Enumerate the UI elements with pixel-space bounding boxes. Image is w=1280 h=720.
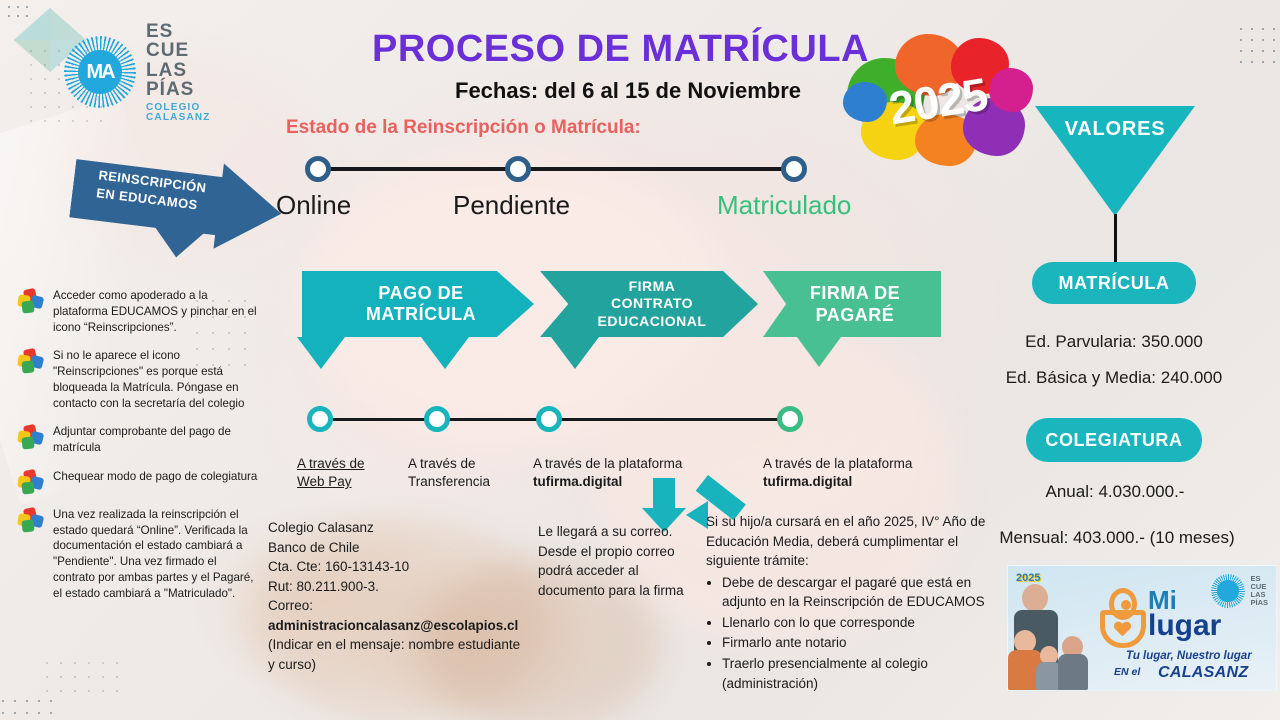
payment-label-line1: A través de (408, 456, 476, 471)
dot (1273, 28, 1275, 30)
logo-sub-2: CALASANZ (146, 113, 211, 123)
payment-label-line1: A través de la plataforma (533, 456, 682, 471)
pagare-info-block: Si su hijo/a cursará en el año 2025, IV°… (706, 512, 988, 694)
email-info-block: Le llegará a su correo. Desde el propio … (538, 522, 700, 600)
colegiatura-value-row: Anual: 4.030.000.- (1000, 482, 1230, 502)
payment-label-transferencia: A través de Transferencia (408, 455, 490, 491)
monogram-text: MA (86, 62, 113, 82)
status-node-pendiente[interactable] (505, 156, 531, 182)
dot (1262, 50, 1264, 52)
instruction-text: Acceder como apoderado a la plataforma E… (53, 288, 258, 335)
dot (60, 662, 62, 664)
bank-line: Cta. Cte: 160-13143-10 (268, 557, 528, 577)
sunburst-logo-icon (1211, 574, 1245, 608)
matricula-pill: MATRÍCULA (1032, 262, 1196, 304)
dot (46, 662, 48, 664)
logo-line-3: LAS (146, 61, 211, 80)
matricula-value-row: Ed. Parvularia: 350.000 (988, 332, 1240, 352)
dot (1262, 39, 1264, 41)
mi-lugar-pin-heart-icon (1100, 588, 1146, 648)
dot (38, 700, 40, 702)
puzzle-piece-icon (18, 470, 44, 494)
payment-label-line1: A través de la plataforma (763, 456, 912, 471)
process-step-pagare[interactable]: FIRMA DE PAGARÉ (763, 271, 941, 337)
payment-label-line2: Web Pay (297, 474, 352, 489)
dot (46, 690, 48, 692)
logo-line-1: ES (146, 22, 211, 41)
dot (58, 78, 60, 80)
list-item: Firmarlo ante notario (722, 633, 988, 653)
family-illustration (1008, 578, 1094, 690)
dot (74, 690, 76, 692)
dot (26, 712, 28, 714)
list-item: Una vez realizada la reinscripción el es… (18, 507, 258, 602)
dot (116, 676, 118, 678)
valores-connector-line (1114, 214, 1117, 262)
dot (26, 700, 28, 702)
dot (1240, 61, 1242, 63)
dot (8, 15, 10, 17)
process-step-contrato[interactable]: FIRMA CONTRATO EDUCACIONAL (540, 271, 758, 337)
list-item: Chequear modo de pago de colegiatura (18, 469, 258, 494)
dot (102, 690, 104, 692)
status-section-label: Estado de la Reinscripción o Matrícula: (286, 117, 641, 139)
dot (30, 106, 32, 108)
matricula-pill-label: MATRÍCULA (1058, 273, 1169, 294)
dot (50, 700, 52, 702)
dot (14, 712, 16, 714)
arrow-tail-triangle (149, 224, 206, 260)
list-item: Adjuntar comprobante del pago de matrícu… (18, 424, 258, 456)
bank-line: Correo: (268, 596, 528, 616)
sunburst-logo-icon: MA (64, 36, 136, 108)
dot (30, 92, 32, 94)
payment-label-line2: Transferencia (408, 474, 490, 489)
payment-label-webpay: A través de Web Pay (297, 455, 365, 491)
valores-triangle: VALORES (1035, 106, 1195, 216)
dot (60, 676, 62, 678)
logo-line-4: PÍAS (146, 80, 211, 99)
year-paint-splash: 2025 (843, 28, 1033, 168)
payment-label-line1: A través de (297, 456, 365, 471)
dot (14, 700, 16, 702)
payment-node-firma-pagare[interactable] (777, 406, 803, 432)
dot (102, 676, 104, 678)
dot (44, 106, 46, 108)
bank-line: Banco de Chile (268, 538, 528, 558)
dot (58, 92, 60, 94)
dot (88, 690, 90, 692)
dot (1262, 61, 1264, 63)
chevron-drop-triangle (297, 337, 345, 369)
dot (1251, 61, 1253, 63)
colegiatura-pill-label: COLEGIATURA (1045, 430, 1182, 451)
process-step-label: FIRMA DE PAGARÉ (804, 282, 900, 327)
instructions-list: Acceder como apoderado a la plataforma E… (18, 288, 258, 614)
pagare-intro: Si su hijo/a cursará en el año 2025, IV°… (706, 512, 988, 571)
payment-node-webpay[interactable] (307, 406, 333, 432)
payment-label-firma-pagare: A través de la plataforma tufirma.digita… (763, 455, 912, 491)
banner-logo-line: PÍAS (1250, 599, 1268, 607)
dot (60, 690, 62, 692)
list-item: Debe de descargar el pagaré que está en … (722, 573, 988, 612)
splash-blot (989, 68, 1033, 112)
person-body (1058, 654, 1088, 690)
bank-note: (Indicar en el mensaje: nombre estudiant… (268, 635, 528, 674)
list-item: Llenarlo con lo que corresponde (722, 613, 988, 633)
banner-lugar-text: lugar (1148, 612, 1221, 641)
triangle-decor (14, 40, 50, 72)
list-item: Acceder como apoderado a la plataforma E… (18, 288, 258, 335)
status-node-online[interactable] (305, 156, 331, 182)
school-logo-text: ES CUE LAS PÍAS COLEGIO CALASANZ (146, 22, 211, 123)
dot (1240, 39, 1242, 41)
valores-heading: VALORES (1035, 118, 1195, 141)
dot (8, 6, 10, 8)
status-label-pendiente: Pendiente (453, 190, 570, 221)
instruction-text: Una vez realizada la reinscripción el es… (53, 507, 258, 602)
dot (116, 690, 118, 692)
dot (1251, 28, 1253, 30)
process-step-label: PAGO DE MATRÍCULA (360, 283, 476, 325)
dot (116, 662, 118, 664)
bank-email: administracioncalasanz@escolapios.cl (268, 616, 528, 636)
dot (1240, 50, 1242, 52)
dot (44, 92, 46, 94)
person-head (1022, 584, 1048, 612)
monogram-circle: MA (78, 50, 122, 94)
payment-node-transferencia[interactable] (424, 406, 450, 432)
dot (58, 106, 60, 108)
icon-pin (1109, 588, 1137, 620)
dot (1240, 28, 1242, 30)
dot (2, 712, 4, 714)
banner-logo-text: ES CUE LAS PÍAS (1250, 575, 1268, 608)
bank-line: Rut: 80.211.900-3. (268, 577, 528, 597)
dot (30, 78, 32, 80)
dot (30, 120, 32, 122)
puzzle-piece-icon (18, 425, 44, 449)
dot (1273, 39, 1275, 41)
banner-tagline: Tu lugar, Nuestro lugar (1126, 650, 1252, 662)
dot (1251, 39, 1253, 41)
logo-line-2: CUE (146, 41, 211, 60)
school-logo: MA ES CUE LAS PÍAS COLEGIO CALASANZ (64, 22, 211, 123)
banner-calasanz-text: CALASANZ (1158, 664, 1248, 682)
chevron-drop-triangle (551, 337, 599, 369)
dot (74, 662, 76, 664)
triangle-decor (14, 8, 50, 40)
dot (1273, 50, 1275, 52)
arrow-stem (653, 478, 675, 510)
puzzle-piece-icon (18, 508, 44, 532)
list-item: Traerlo presencialmente al colegio (admi… (722, 654, 988, 693)
payment-node-firma-contrato[interactable] (536, 406, 562, 432)
banner-tag-prefix: EN el (1114, 666, 1140, 678)
payment-label-line2: tufirma.digital (763, 474, 852, 489)
chevron-drop-triangle (421, 337, 469, 369)
splash-blot (843, 82, 887, 122)
dot (102, 662, 104, 664)
dot (50, 712, 52, 714)
colegiatura-value-row: Mensual: 403.000.- (10 meses) (972, 528, 1262, 548)
process-step-label: FIRMA CONTRATO EDUCACIONAL (592, 278, 707, 331)
colegiatura-pill: COLEGIATURA (1026, 418, 1202, 462)
process-step-pago[interactable]: PAGO DE MATRÍCULA (302, 271, 534, 337)
dot (88, 662, 90, 664)
pagare-list: Debe de descargar el pagaré que está en … (706, 573, 988, 693)
instruction-text: Si no le aparece el icono "Reinscripcion… (53, 348, 258, 411)
status-node-matriculado[interactable] (781, 156, 807, 182)
bank-line: Colegio Calasanz (268, 518, 528, 538)
dot (1273, 61, 1275, 63)
mi-lugar-banner: 2025 Mi lugar Tu lugar, Nuestro lugar EN… (1007, 565, 1277, 691)
dot (58, 120, 60, 122)
dot (46, 676, 48, 678)
bank-details-block: Colegio Calasanz Banco de Chile Cta. Cte… (268, 518, 528, 675)
matricula-value-row: Ed. Básica y Media: 240.000 (976, 368, 1252, 388)
page-title: PROCESO DE MATRÍCULA (372, 28, 869, 71)
payment-label-line2: tufirma.digital (533, 474, 622, 489)
poster-canvas: MA ES CUE LAS PÍAS COLEGIO CALASANZ PROC… (0, 0, 1280, 720)
reinscripcion-arrow: REINSCRIPCIÓN EN EDUCAMOS (68, 146, 287, 257)
dot (1251, 50, 1253, 52)
dot (38, 712, 40, 714)
dot (44, 78, 46, 80)
dot (44, 120, 46, 122)
icon-heart (1114, 622, 1131, 637)
dates-subtitle: Fechas: del 6 al 15 de Noviembre (455, 78, 801, 104)
banner-school-logo: ES CUE LAS PÍAS (1211, 574, 1268, 608)
dot (2, 700, 4, 702)
dot (1262, 28, 1264, 30)
list-item: Si no le aparece el icono "Reinscripcion… (18, 348, 258, 411)
dot (88, 676, 90, 678)
status-label-matriculado: Matriculado (717, 190, 851, 221)
instruction-text: Adjuntar comprobante del pago de matrícu… (53, 424, 258, 456)
puzzle-piece-icon (18, 289, 44, 313)
instruction-text: Chequear modo de pago de colegiatura (53, 469, 257, 494)
puzzle-piece-icon (18, 349, 44, 373)
chevron-drop-triangle (797, 337, 841, 367)
timeline-track (318, 167, 794, 171)
status-label-online: Online (276, 190, 351, 221)
dot (74, 676, 76, 678)
